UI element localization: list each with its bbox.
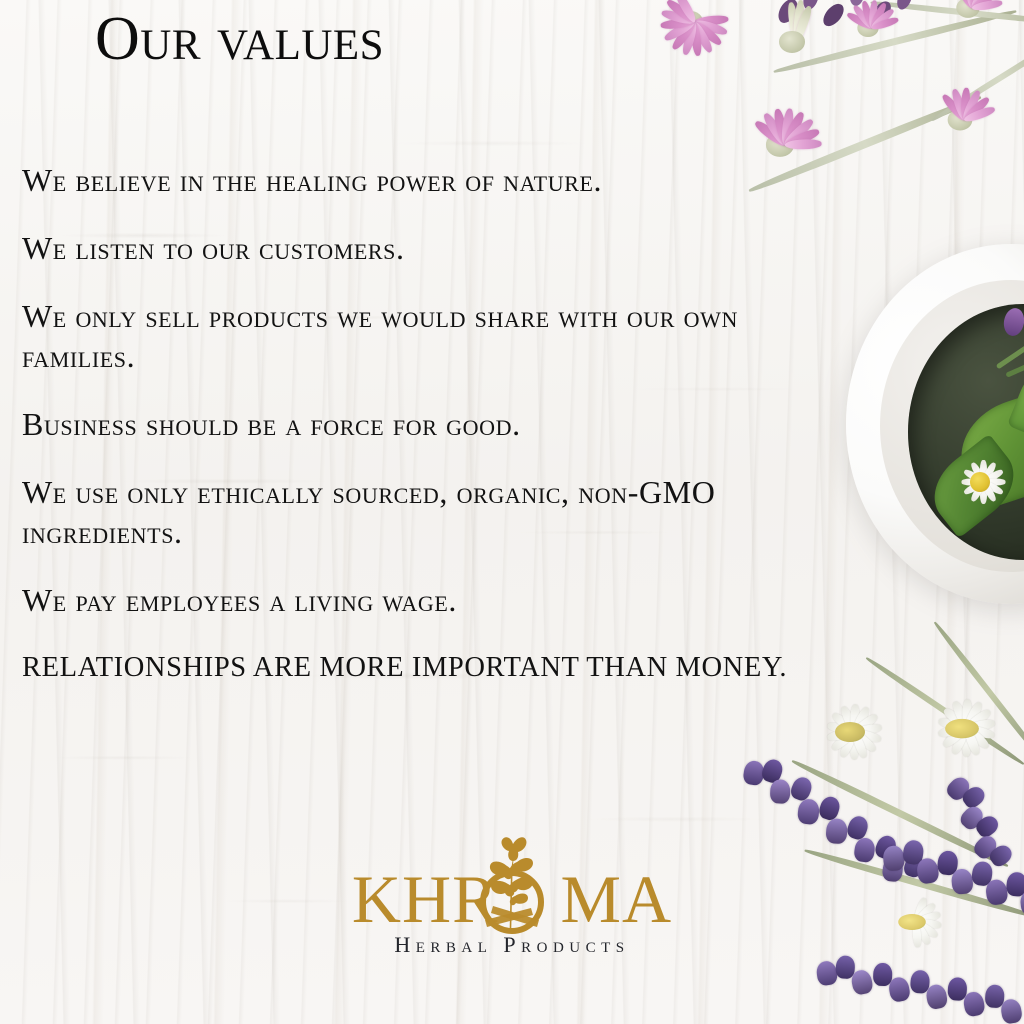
bud — [868, 0, 894, 27]
value-item-relationships: relationships are more important than mo… — [22, 648, 832, 688]
logo-word-left: KHR — [352, 861, 499, 937]
flower-calyx — [948, 110, 973, 131]
daisy-center — [945, 719, 979, 739]
values-poster: Our values We believe in the healing pow… — [0, 0, 1024, 1024]
values-list: We believe in the healing power of natur… — [22, 160, 832, 716]
daisy-center — [835, 722, 865, 742]
flower-stem — [931, 33, 1024, 123]
sage-floret — [1002, 306, 1024, 337]
bud — [775, 0, 802, 26]
sage-floret — [1020, 497, 1024, 536]
lavender-stem — [932, 620, 1024, 766]
brand-logo[interactable]: KHRMA — [0, 862, 1024, 958]
white-ceramic-mortar-bowl — [846, 244, 1024, 604]
value-item-nature: We believe in the healing power of natur… — [22, 160, 832, 200]
page-title: Our values — [95, 8, 384, 70]
flower-calyx — [857, 19, 878, 37]
bud — [848, 0, 866, 7]
daisy-center — [970, 472, 990, 492]
bud — [819, 0, 847, 30]
lavender-spike — [805, 950, 1024, 1024]
flower-calyx — [766, 133, 794, 157]
logo-ring — [478, 868, 546, 936]
purple-bud-cluster — [770, 0, 940, 50]
flower-stem — [870, 0, 1024, 26]
logo-mark: KHRMA — [352, 862, 672, 936]
value-item-business: Business should be a force for good. — [22, 404, 832, 444]
value-item-products: We only sell products we would share wit… — [22, 296, 832, 376]
flower-calyx — [779, 31, 805, 53]
flower-stem — [773, 8, 1017, 75]
flower-calyx — [677, 11, 703, 33]
bud — [801, 0, 822, 12]
flower-calyx — [956, 0, 979, 18]
value-item-ingredients: We use only ethically sourced, organic, … — [22, 472, 832, 552]
value-item-listen: We listen to our customers. — [22, 228, 832, 268]
logo-word-right: MA — [561, 861, 673, 937]
lavender-stem — [865, 655, 1024, 766]
lavender-stem — [791, 758, 1010, 870]
bud — [894, 0, 914, 12]
rosemary-sprig — [996, 332, 1024, 370]
value-item-wage: We pay employees a living wage. — [22, 580, 832, 620]
